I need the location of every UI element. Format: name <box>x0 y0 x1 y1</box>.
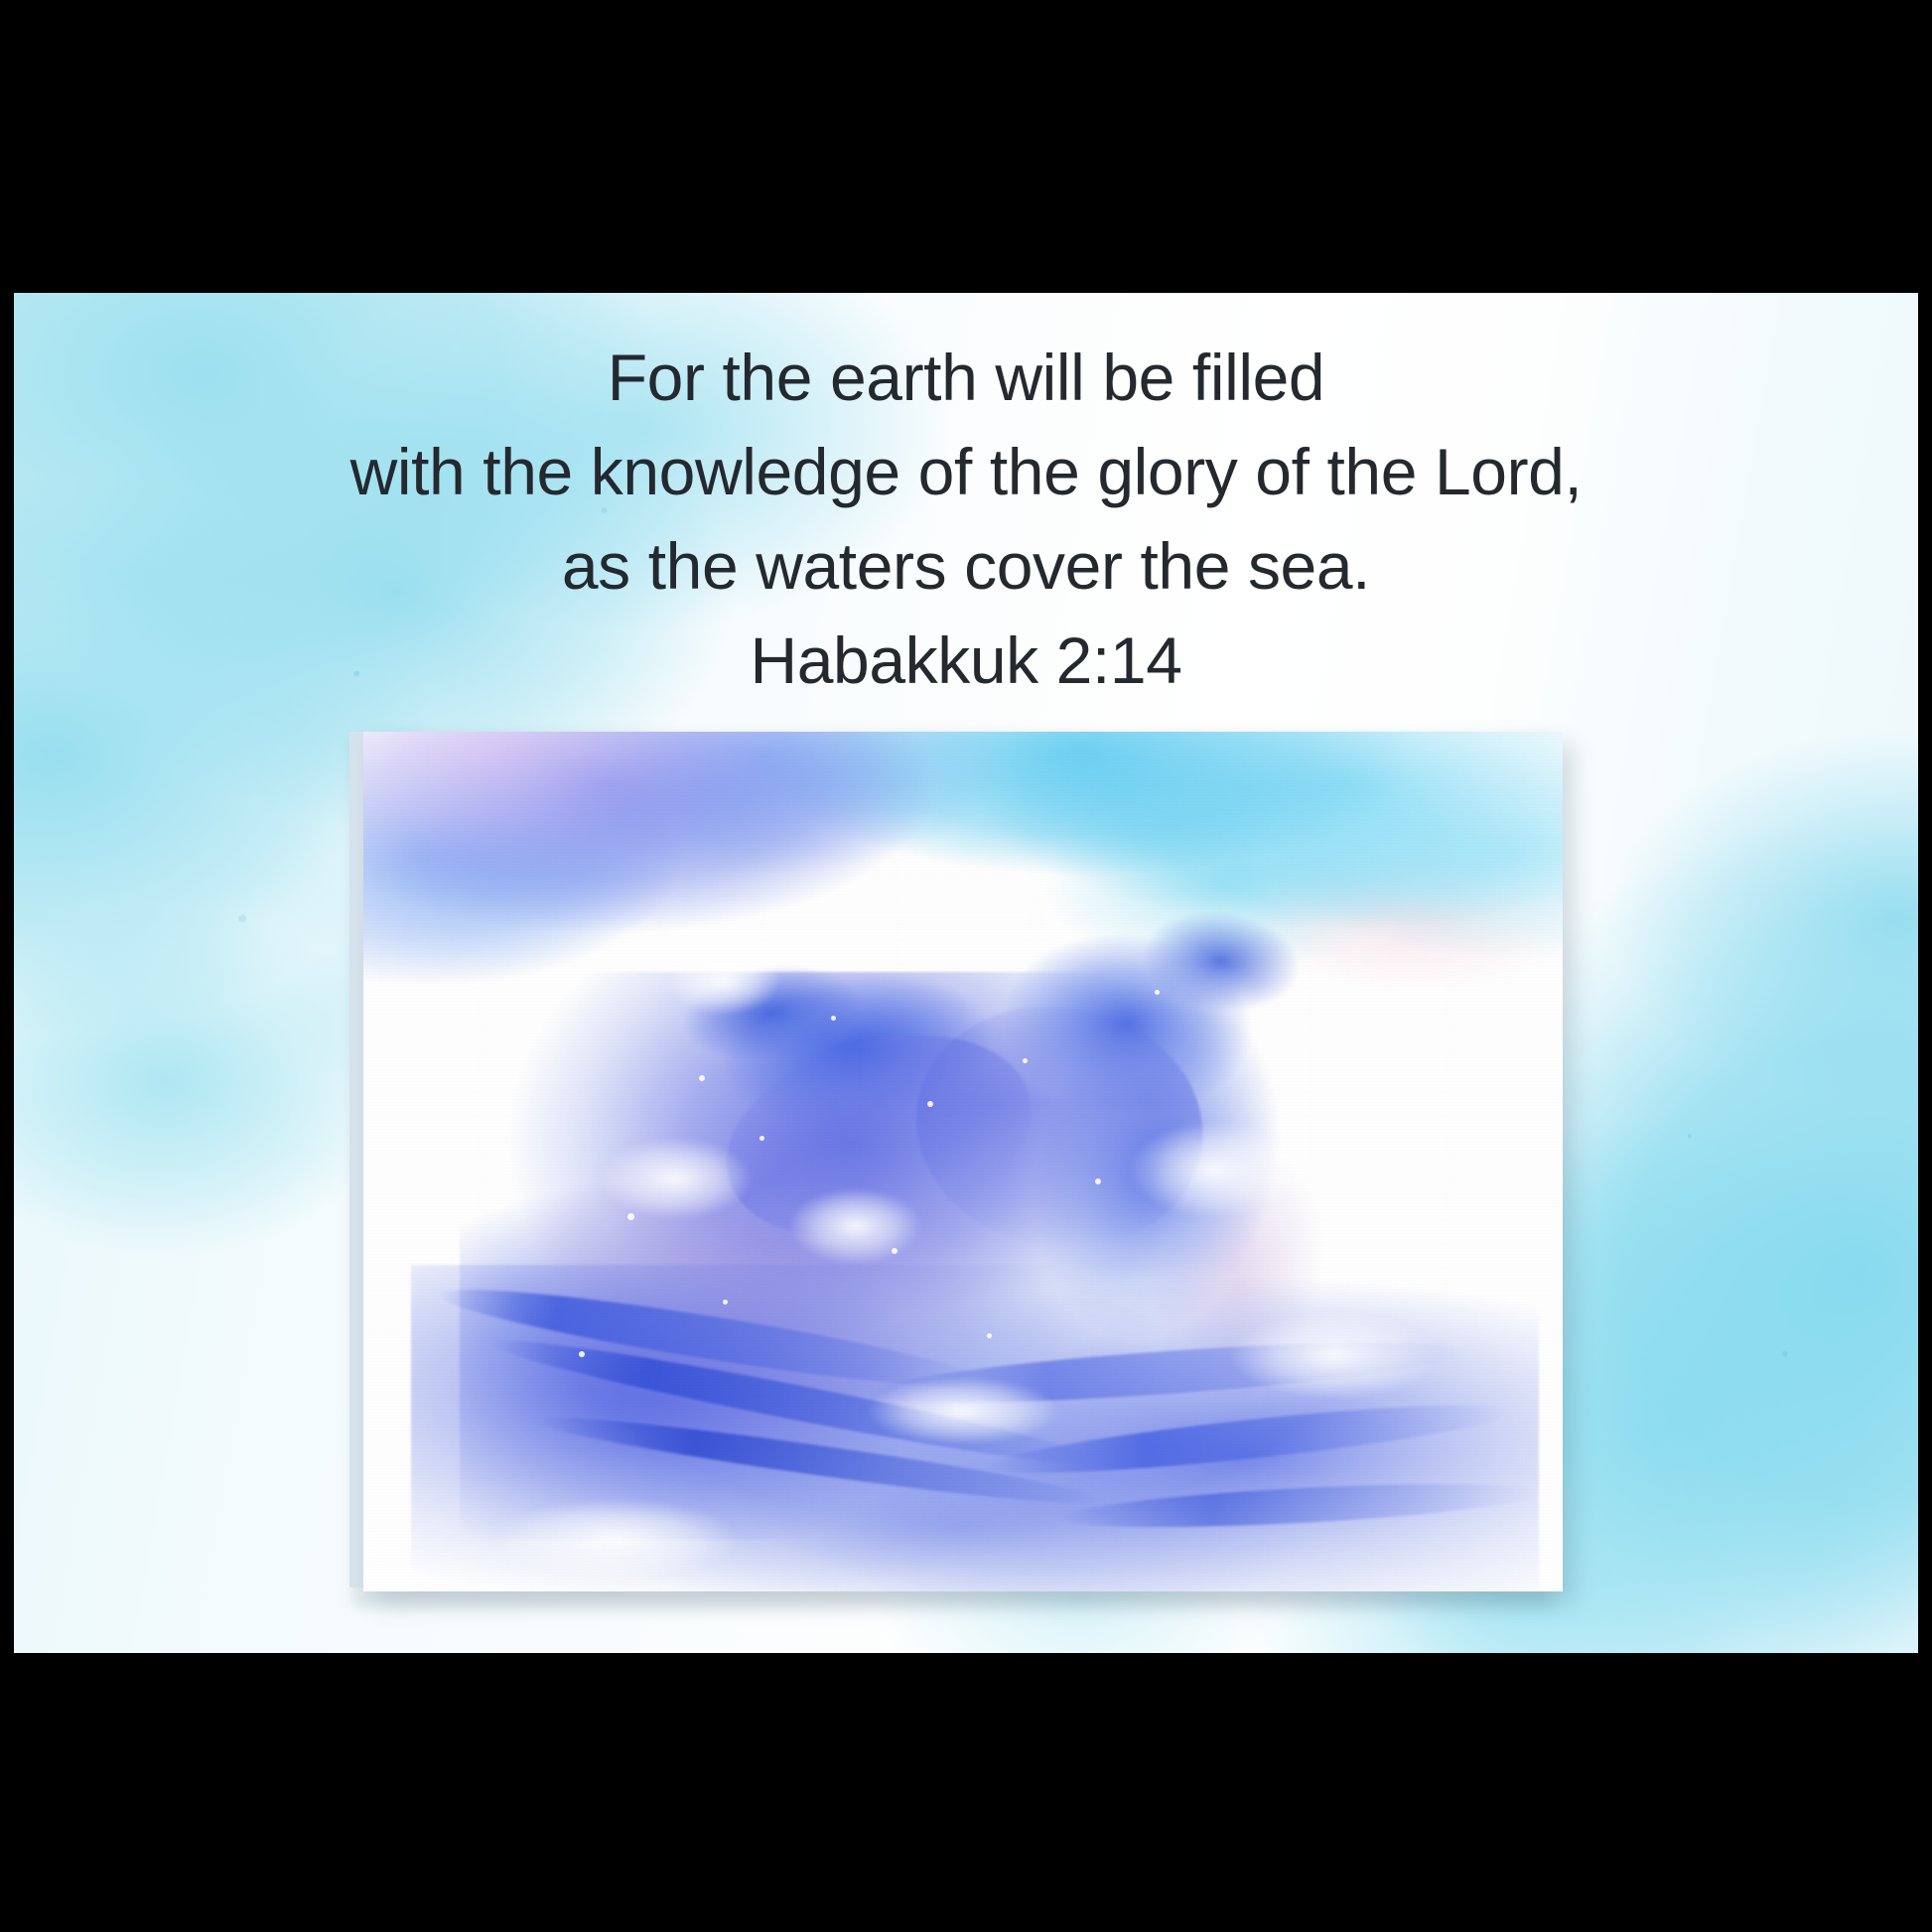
screenshot-canvas: For the earth will be filled with the kn… <box>0 0 1932 1932</box>
spray-fleck <box>831 1016 836 1021</box>
verse-line-2: with the knowledge of the glory of the L… <box>14 425 1918 519</box>
wave-painting-card <box>363 732 1563 1591</box>
foam-highlight <box>771 1178 939 1273</box>
spray-fleck <box>892 1248 897 1254</box>
foam-highlight <box>1203 1300 1467 1412</box>
verse-reference: Habakkuk 2:14 <box>14 614 1918 708</box>
wave-painting-card-wrapper <box>363 732 1563 1595</box>
foam-highlight <box>579 1127 770 1230</box>
foam-highlight <box>1107 1110 1322 1230</box>
scripture-verse-text: For the earth will be filled with the kn… <box>14 331 1918 708</box>
verse-line-3: as the waters cover the sea. <box>14 519 1918 614</box>
watercolor-scripture-print: For the earth will be filled with the kn… <box>14 293 1918 1653</box>
spray-fleck <box>579 1351 585 1357</box>
foam-highlight <box>460 1488 771 1591</box>
foam-highlight <box>651 938 795 1025</box>
verse-line-1: For the earth will be filled <box>14 331 1918 425</box>
spray-fleck <box>627 1213 634 1220</box>
foam-highlight <box>843 1368 1083 1454</box>
spray-fleck <box>759 1136 764 1141</box>
